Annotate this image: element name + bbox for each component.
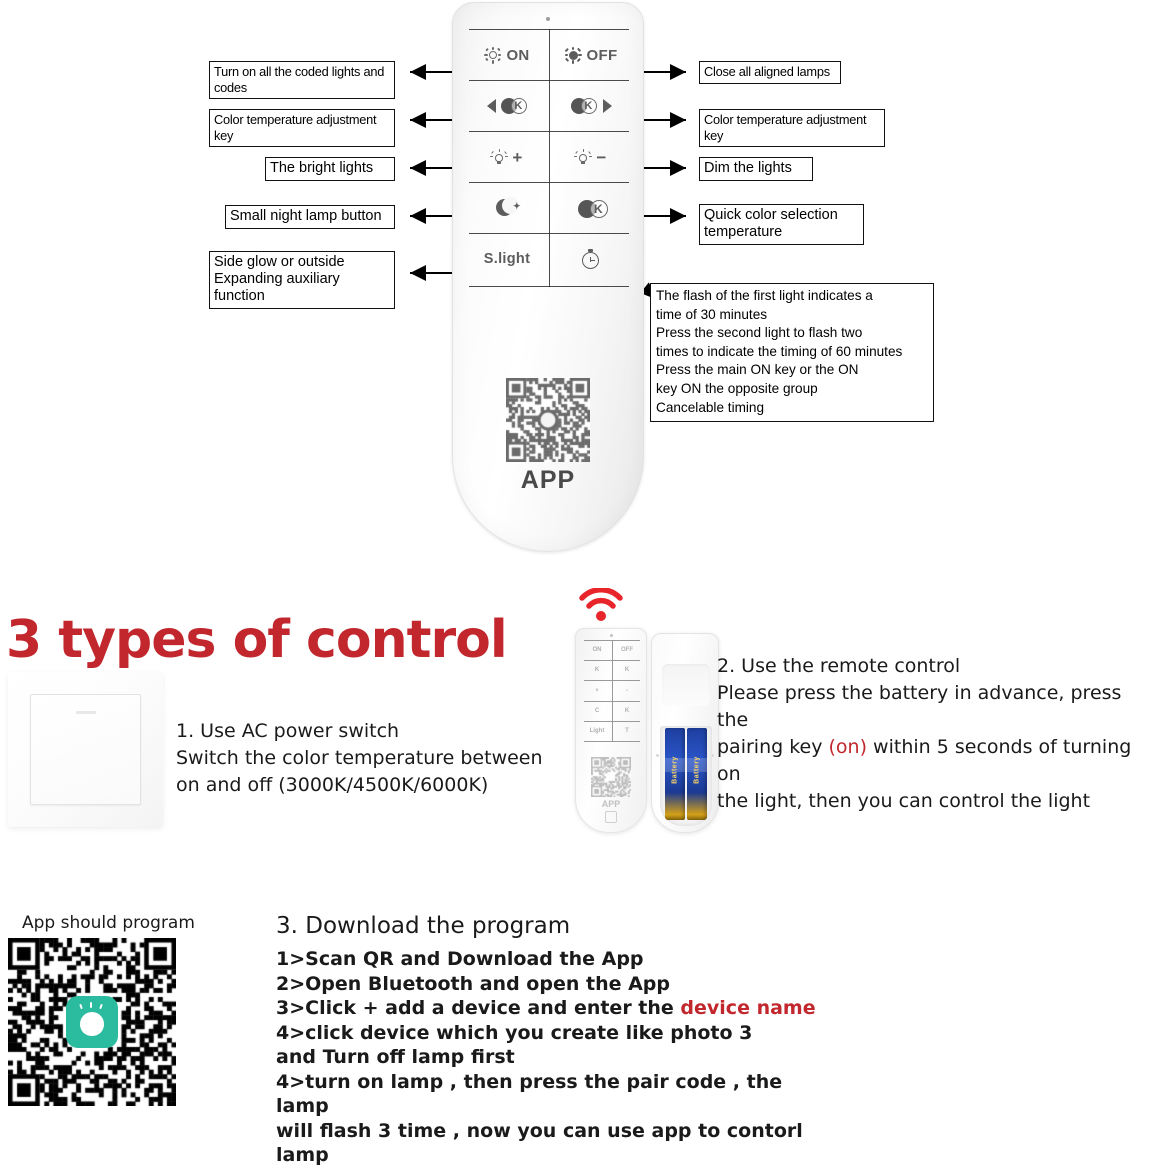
type2-description: 2. Use the remote control Please press t…	[717, 653, 1147, 815]
type1-line2: Switch the color temperature between	[176, 745, 576, 772]
section-title-3-types: 3 types of control	[6, 610, 507, 670]
type2-line4: the light, then you can control the ligh…	[717, 788, 1147, 815]
mini-key-9[interactable]: T	[612, 721, 642, 741]
download-step-4: 4>click device which you create like pho…	[276, 1021, 836, 1046]
callout-right-dim-lights: Dim the lights	[699, 157, 813, 181]
battery-cell-2: Battery	[687, 728, 707, 820]
sun-solid-icon	[565, 47, 582, 64]
callout-right-close-lamps: Close all aligned lamps	[699, 61, 841, 84]
remote-app-label: APP	[453, 466, 643, 495]
ir-led-dot	[546, 17, 550, 21]
arrow-left-2	[410, 112, 426, 128]
wall-switch-marking	[76, 711, 96, 714]
kelvin-icon: K	[578, 200, 605, 217]
callout-left-night-lamp: Small night lamp button	[225, 205, 395, 229]
arrow-right-4	[670, 208, 686, 224]
mini-remote-app-label: APP	[576, 799, 646, 809]
key-brightness-down[interactable]: −	[549, 132, 633, 182]
key-color-temp-up[interactable]: K	[549, 81, 633, 131]
remote-qr-code	[506, 378, 590, 462]
download-step-3-text: 3>Click + add a device and enter the	[276, 997, 680, 1019]
app-download-qr-code[interactable]	[8, 938, 176, 1106]
moon-icon: ✦	[496, 199, 518, 217]
remote-control-diagram: ON OFF K	[0, 0, 1151, 570]
bulb-minus-icon	[575, 149, 591, 166]
device-name-highlight: device name	[680, 997, 815, 1019]
key-side-light[interactable]: S.light	[465, 234, 549, 284]
arrow-right-3	[670, 160, 686, 176]
star-icon: ✦	[513, 204, 518, 209]
arrow-right-2	[670, 112, 686, 128]
key-brightness-up[interactable]: +	[465, 132, 549, 182]
mini-key-2[interactable]: K	[582, 660, 612, 680]
app-logo-icon	[66, 996, 118, 1048]
callout-left-bright-lights: The bright lights	[265, 157, 395, 181]
wifi-signal-icon	[578, 588, 624, 622]
key-kelvin-preset[interactable]: K	[549, 183, 633, 233]
arrow-left-1	[410, 64, 426, 80]
mini-key-0[interactable]: ON	[582, 640, 612, 660]
wall-switch-rocker	[30, 694, 141, 805]
wall-switch-image	[8, 672, 163, 827]
battery-compartment: Battery Battery	[660, 726, 712, 826]
key-on[interactable]: ON	[465, 30, 549, 80]
mini-key-4[interactable]: +	[582, 681, 612, 701]
key-side-light-label: S.light	[484, 252, 530, 267]
battery-cover[interactable]	[662, 664, 710, 706]
mini-remote-front: ON OFF K K + - C K Light T APP	[575, 628, 647, 833]
mini-key-7[interactable]: K	[612, 701, 642, 721]
download-step-3: 3>Click + add a device and enter the dev…	[276, 996, 836, 1021]
type1-description: 1. Use AC power switch Switch the color …	[176, 718, 576, 799]
key-night-light[interactable]: ✦	[465, 183, 549, 233]
callout-timer-description: The flash of the first light indicates a…	[650, 283, 934, 422]
keypad-divider-h-5	[469, 286, 629, 287]
mini-remote-keypad: ON OFF K K + - C K Light T	[582, 640, 642, 742]
battery-cell-1-label: Battery	[672, 757, 679, 785]
key-off[interactable]: OFF	[549, 30, 633, 80]
plus-icon: +	[512, 149, 522, 166]
type2-line3-pre: pairing key	[717, 736, 829, 758]
remote-back-battery-view: Battery Battery	[651, 633, 719, 833]
type2-line3: pairing key (on) within 5 seconds of tur…	[717, 734, 1147, 788]
mini-remote-ir-dot	[610, 634, 613, 637]
mini-divider-h-5	[584, 741, 640, 742]
remote-keypad: ON OFF K	[465, 29, 633, 287]
triangle-right-icon	[603, 99, 612, 113]
battery-cell-1: Battery	[665, 728, 685, 820]
mini-key-6[interactable]: C	[582, 701, 612, 721]
arrow-left-4	[410, 208, 426, 224]
callout-left-color-temp: Color temperature adjustment key	[209, 109, 395, 147]
mini-key-5[interactable]: -	[612, 681, 642, 701]
bulb-plus-icon	[491, 149, 507, 166]
download-step-5b: will flash 3 time , now you can use app …	[276, 1119, 836, 1168]
remote-body: ON OFF K	[452, 2, 644, 552]
minus-icon: −	[596, 149, 606, 166]
callout-left-side-glow: Side glow or outside Expanding auxiliary…	[209, 251, 395, 309]
app-should-program-caption: App should program	[22, 913, 195, 933]
sun-hollow-icon	[484, 47, 501, 64]
type2-pairing-key-highlight: (on)	[829, 736, 868, 758]
download-step-5: 4>turn on lamp , then press the pair cod…	[276, 1070, 836, 1119]
callout-right-color-temp: Color temperature adjustment key	[699, 109, 885, 147]
mini-remote-icon-square	[605, 811, 617, 823]
download-step-4b: and Turn off lamp first	[276, 1045, 836, 1070]
battery-cell-2-label: Battery	[694, 757, 701, 785]
download-steps: 1>Scan QR and Download the App 2>Open Bl…	[276, 947, 836, 1168]
type2-line1: 2. Use the remote control	[717, 653, 1147, 680]
triangle-left-icon	[487, 99, 496, 113]
key-on-label: ON	[506, 48, 529, 63]
mini-key-1[interactable]: OFF	[612, 640, 642, 660]
callout-right-quick-color: Quick color selection temperature	[699, 204, 864, 245]
arrow-left-3	[410, 160, 426, 176]
screw-left	[656, 754, 659, 757]
download-step-1: 1>Scan QR and Download the App	[276, 947, 836, 972]
callout-left-turn-on-coded: Turn on all the coded lights and codes	[209, 61, 395, 99]
kelvin-left-icon: K	[501, 98, 528, 115]
mini-remote-qr-code	[591, 757, 631, 797]
arrow-right-1	[670, 64, 686, 80]
mini-key-3[interactable]: K	[612, 660, 642, 680]
mini-key-8[interactable]: Light	[582, 721, 612, 741]
type2-line2: Please press the battery in advance, pre…	[717, 680, 1147, 734]
arrow-left-5	[410, 265, 426, 281]
download-title: 3. Download the program	[276, 913, 570, 939]
timer-icon	[581, 249, 602, 270]
key-off-label: OFF	[587, 48, 618, 63]
type1-line1: 1. Use AC power switch	[176, 718, 576, 745]
type1-line3: on and off (3000K/4500K/6000K)	[176, 772, 576, 799]
key-color-temp-down[interactable]: K	[465, 81, 549, 131]
key-timer[interactable]	[549, 234, 633, 284]
download-program-section: App should program 3. Download the progr…	[0, 905, 1151, 1120]
download-step-2: 2>Open Bluetooth and open the App	[276, 972, 836, 997]
kelvin-right-icon: K	[571, 98, 598, 115]
